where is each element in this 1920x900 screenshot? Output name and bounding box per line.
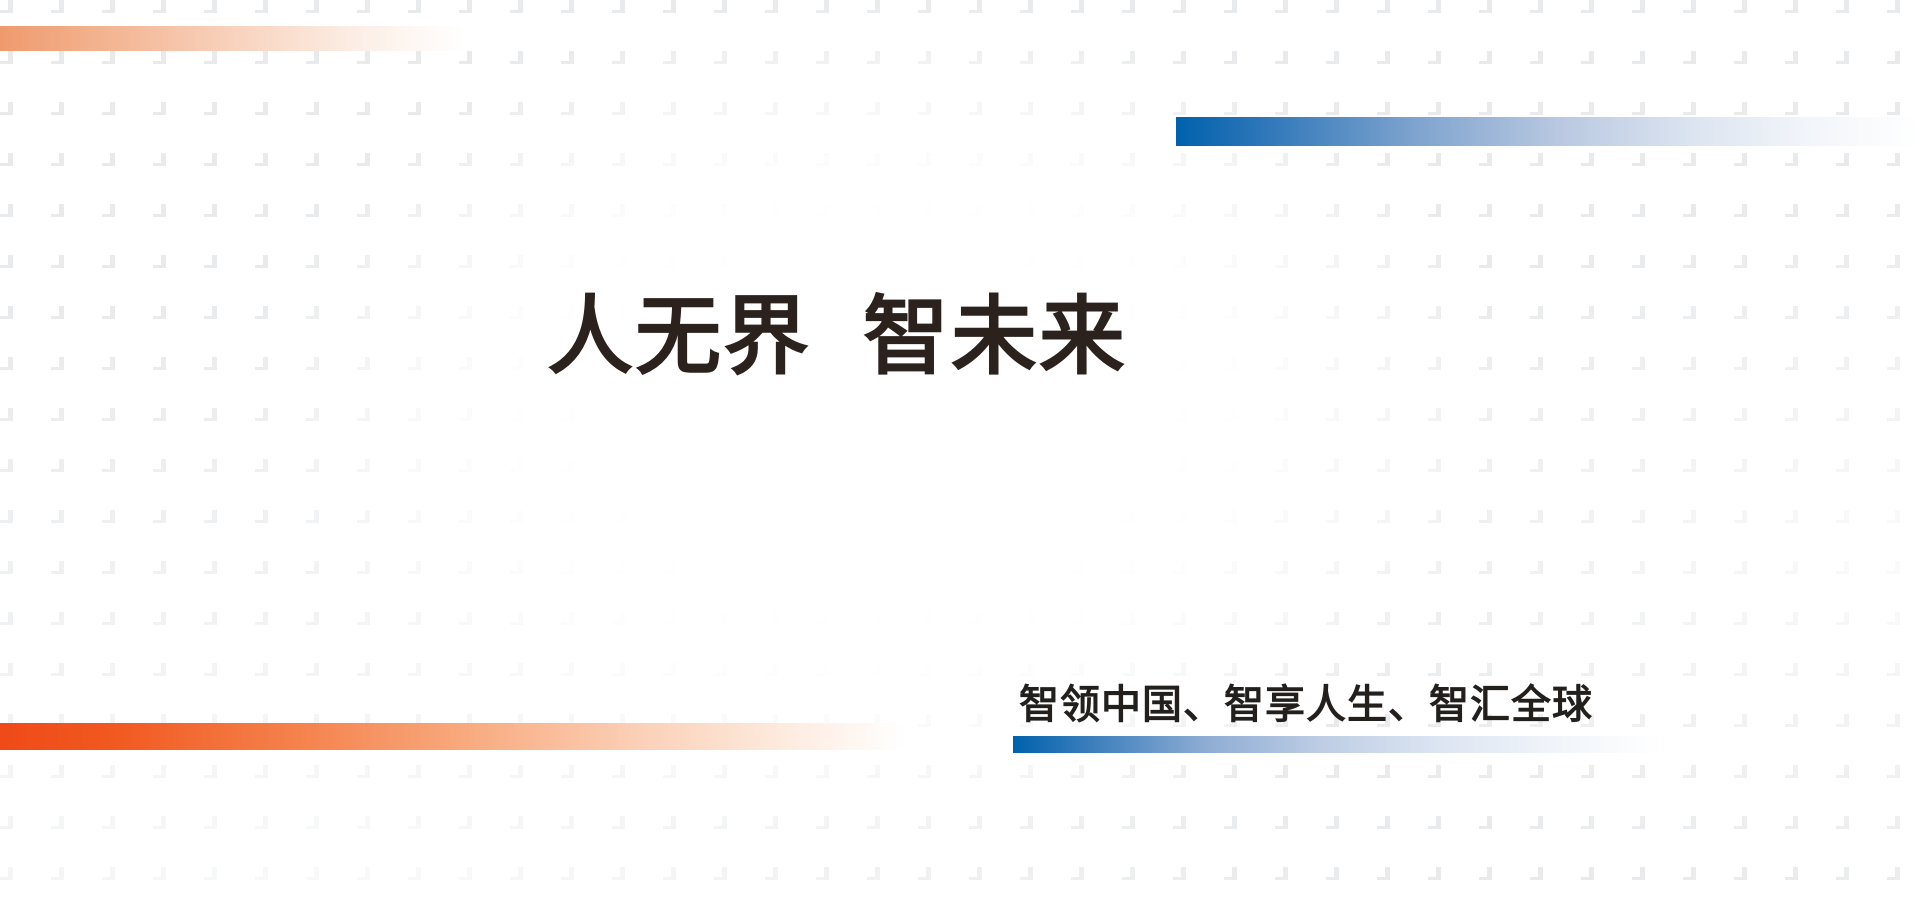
presentation-slide: 人无界 智未来 智领中国、智享人生、智汇全球: [0, 0, 1920, 900]
decor-bar-bottom-left-orange: [0, 723, 906, 750]
decor-bar-top-right-blue: [1176, 117, 1920, 146]
decor-bar-top-left-orange: [0, 26, 465, 51]
decor-bar-mid-right-orange: [1301, 544, 1920, 577]
slide-subtitle: 智领中国、智享人生、智汇全球: [1013, 680, 1673, 730]
slide-subtitle-block: 智领中国、智享人生、智汇全球: [1013, 680, 1673, 753]
subtitle-underline-rule: [1013, 736, 1663, 753]
slide-title: 人无界 智未来: [0, 292, 1797, 382]
